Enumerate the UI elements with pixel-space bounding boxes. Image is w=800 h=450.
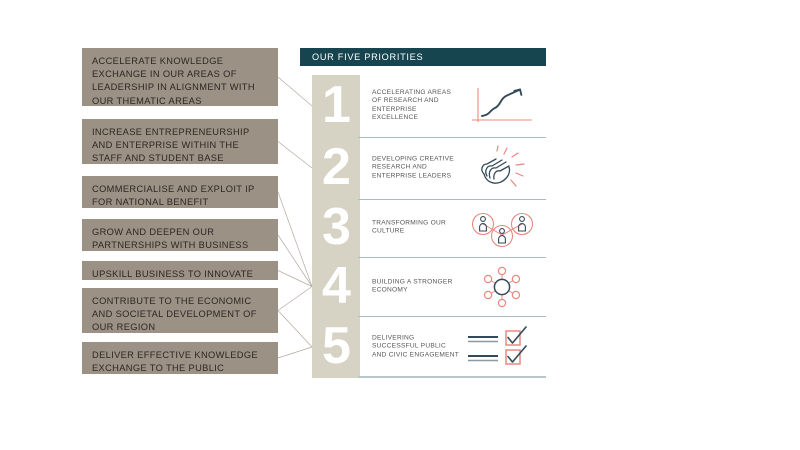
statement-box[interactable]: ACCELERATE KNOWLEDGE EXCHANGE IN OUR ARE… [82,48,278,106]
statement-box[interactable]: COMMERCIALISE AND EXPLOIT IP FOR NATIONA… [82,176,278,208]
priorities-panel: OUR FIVE PRIORITIES 1ACCELERATING AREAS … [300,48,546,378]
statement-box[interactable]: CONTRIBUTE TO THE ECONOMIC AND SOCIETAL … [82,288,278,333]
growth-chart-icon [462,82,542,130]
priority-number: 1 [312,82,360,128]
priority-title: TRANSFORMING OUR CULTURE [372,220,460,237]
statement-box[interactable]: UPSKILL BUSINESS TO INNOVATE [82,261,278,280]
priority-row[interactable]: 4BUILDING A STRONGER ECONOMY [300,257,546,316]
priority-title: DELIVERING SUCCESSFUL PUBLIC AND CIVIC E… [372,334,460,359]
priority-row[interactable]: 5DELIVERING SUCCESSFUL PUBLIC AND CIVIC … [300,316,546,378]
priority-title: ACCELERATING AREAS OF RESEARCH AND ENTER… [372,89,460,123]
priority-number: 2 [312,144,360,190]
hub-spoke-icon [462,263,542,311]
priority-row[interactable]: 1ACCELERATING AREAS OF RESEARCH AND ENTE… [300,75,546,137]
people-network-icon [462,204,542,252]
clapping-hand-icon [462,144,542,192]
priority-title: BUILDING A STRONGER ECONOMY [372,278,460,295]
statement-box[interactable]: INCREASE ENTREPRENEURSHIP AND ENTERPRISE… [82,119,278,164]
priority-title: DEVELOPING CREATIVE RESEARCH AND ENTERPR… [372,155,460,180]
statement-box[interactable]: GROW AND DEEPEN OUR PARTNERSHIPS WITH BU… [82,219,278,251]
panel-bottom-rule [358,376,546,378]
row-divider [358,137,546,138]
priority-row[interactable]: 3TRANSFORMING OUR CULTURE [300,199,546,257]
diagram-canvas: ACCELERATE KNOWLEDGE EXCHANGE IN OUR ARE… [0,0,800,450]
priority-row[interactable]: 2DEVELOPING CREATIVE RESEARCH AND ENTERP… [300,137,546,199]
statement-box[interactable]: DELIVER EFFECTIVE KNOWLEDGE EXCHANGE TO … [82,342,278,374]
priority-number: 5 [312,323,360,369]
priority-number: 4 [312,263,360,309]
priority-row-list: 1ACCELERATING AREAS OF RESEARCH AND ENTE… [300,75,546,378]
checklist-icon [462,323,542,371]
panel-header-title: OUR FIVE PRIORITIES [300,48,546,66]
priority-number: 3 [312,204,360,250]
row-divider [358,257,546,258]
row-divider [358,316,546,317]
row-divider [358,199,546,200]
